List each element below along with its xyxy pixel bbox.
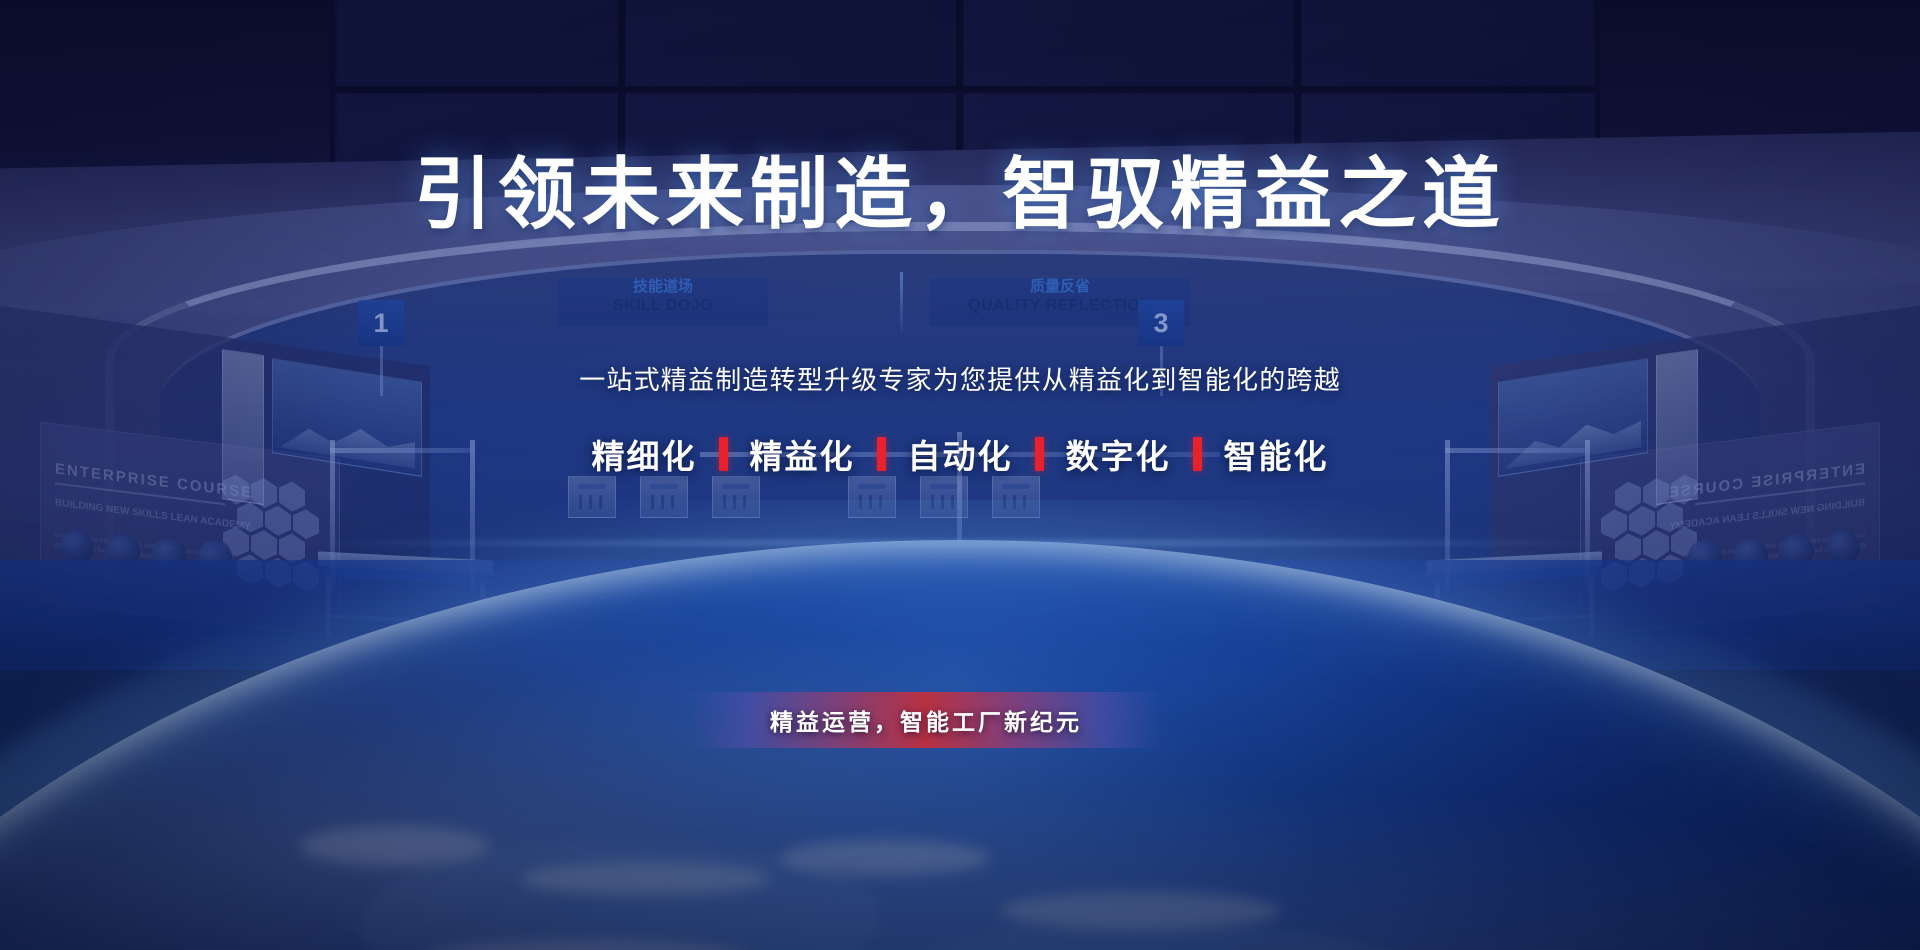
hero-content: 引领未来制造，智驭精益之道 一站式精益制造转型升级专家为您提供从精益化到智能化的…	[0, 0, 1920, 950]
hero-banner: ENTERPRISE COURSE BUILDING NEW SKILLS LE…	[0, 0, 1920, 950]
keyword-separator-icon	[1193, 437, 1202, 471]
tagline-ribbon: 精益运营，智能工厂新纪元	[690, 692, 1162, 748]
page-title: 引领未来制造，智驭精益之道	[0, 132, 1920, 244]
keyword-separator-icon	[1035, 437, 1044, 471]
keyword-item-1: 精细化	[592, 430, 697, 478]
keyword-list: 精细化 精益化 自动化 数字化 智能化	[0, 430, 1920, 478]
keyword-separator-icon	[719, 437, 728, 471]
keyword-item-2: 精益化	[750, 430, 855, 478]
hero-subtitle: 一站式精益制造转型升级专家为您提供从精益化到智能化的跨越	[0, 360, 1920, 397]
keyword-item-5: 智能化	[1224, 430, 1329, 478]
keyword-item-3: 自动化	[908, 430, 1013, 478]
tagline-text: 精益运营，智能工厂新纪元	[770, 703, 1082, 737]
keyword-item-4: 数字化	[1066, 430, 1171, 478]
keyword-separator-icon	[877, 437, 886, 471]
